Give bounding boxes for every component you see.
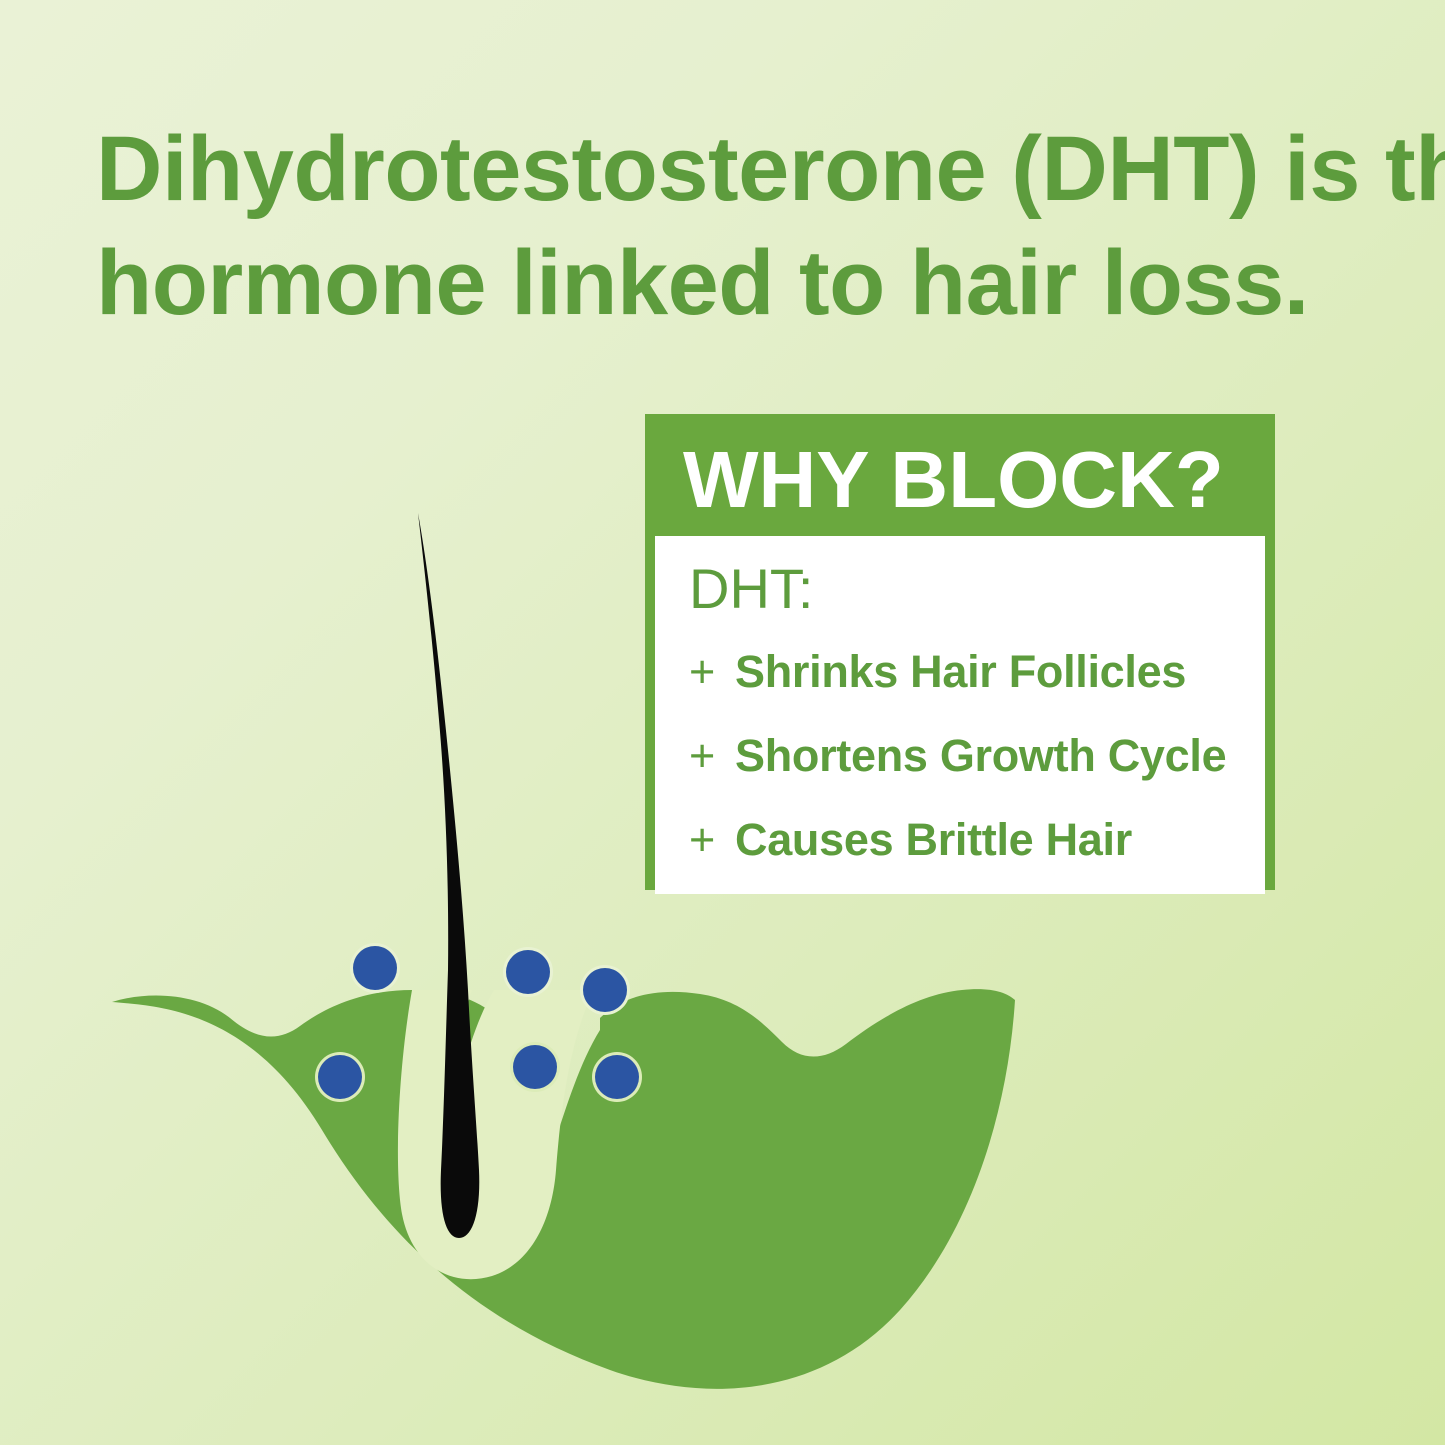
headline-line-1: Dihydrotestosterone (DHT) is the <box>96 112 1386 226</box>
list-item: + Shrinks Hair Follicles <box>689 634 1245 710</box>
dht-molecule <box>583 968 627 1012</box>
list-item-label: Causes Brittle Hair <box>735 802 1132 878</box>
dht-molecule <box>353 946 397 990</box>
list-item: + Causes Brittle Hair <box>689 802 1245 878</box>
headline-line-2: hormone linked to hair loss. <box>96 226 1386 340</box>
page-title: Dihydrotestosterone (DHT) is the hormone… <box>96 112 1386 340</box>
dht-molecule <box>595 1055 639 1099</box>
card-title: WHY BLOCK? <box>683 440 1224 520</box>
plus-icon: + <box>689 802 735 878</box>
list-item: + Shortens Growth Cycle <box>689 718 1245 794</box>
dht-effects-list: + Shrinks Hair Follicles + Shortens Grow… <box>689 634 1245 878</box>
card-header: WHY BLOCK? <box>655 424 1265 536</box>
card-body: DHT: + Shrinks Hair Follicles + Shortens… <box>655 536 1265 894</box>
dht-molecule <box>513 1045 557 1089</box>
card-lead-label: DHT: <box>689 558 1245 620</box>
dht-molecule <box>506 950 550 994</box>
list-item-label: Shrinks Hair Follicles <box>735 634 1186 710</box>
headline-line-2-emphasis: linked to hair loss. <box>511 232 1309 334</box>
infographic-poster: Dihydrotestosterone (DHT) is the hormone… <box>0 0 1445 1445</box>
headline-line-2-normal: hormone <box>96 232 511 334</box>
plus-icon: + <box>689 634 735 710</box>
why-block-card: WHY BLOCK? DHT: + Shrinks Hair Follicles… <box>645 414 1275 890</box>
dht-molecule <box>318 1055 362 1099</box>
list-item-label: Shortens Growth Cycle <box>735 718 1226 794</box>
plus-icon: + <box>689 718 735 794</box>
